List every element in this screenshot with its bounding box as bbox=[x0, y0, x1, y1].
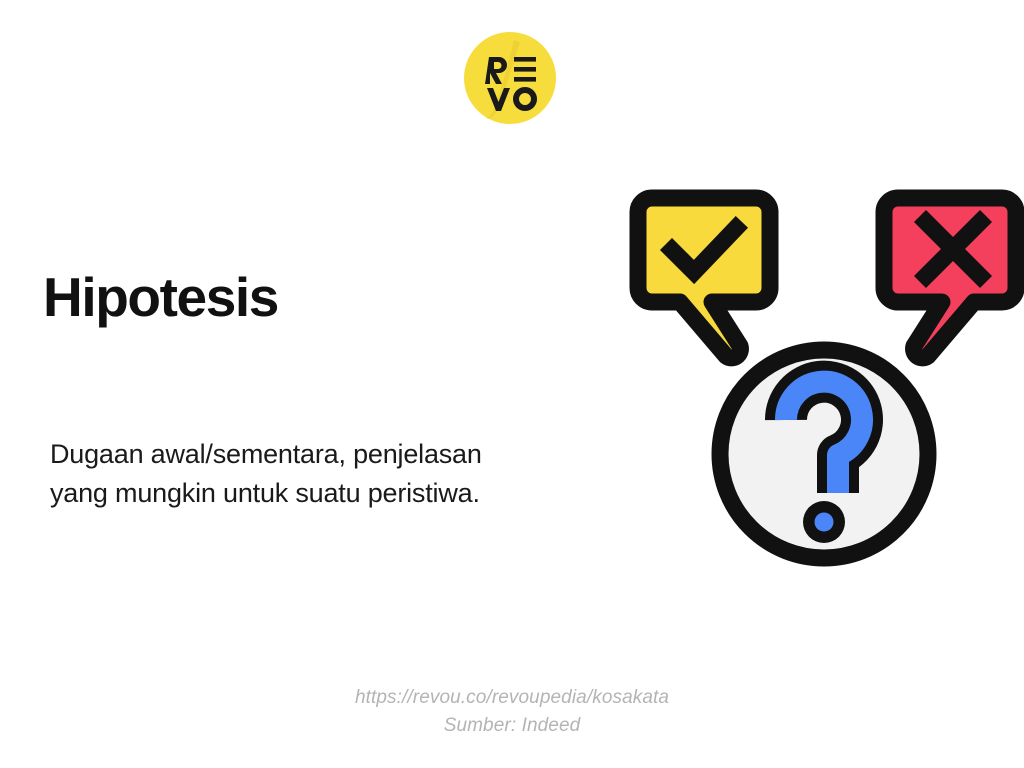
slide-root: Hipotesis Dugaan awal/sementara, penjela… bbox=[0, 0, 1024, 768]
speech-bubble-check-icon bbox=[638, 198, 770, 358]
question-mark-circle-icon bbox=[720, 350, 928, 558]
footer-source: Sumber: Indeed bbox=[0, 712, 1024, 740]
footer: https://revou.co/revoupedia/kosakata Sum… bbox=[0, 684, 1024, 739]
hypothesis-illustration bbox=[600, 170, 1024, 590]
revou-logo bbox=[462, 30, 558, 126]
speech-bubble-cross-icon bbox=[884, 198, 1016, 358]
page-title: Hipotesis bbox=[43, 269, 278, 327]
footer-url[interactable]: https://revou.co/revoupedia/kosakata bbox=[0, 684, 1024, 712]
definition-text: Dugaan awal/sementara, penjelasan yang m… bbox=[50, 435, 530, 513]
